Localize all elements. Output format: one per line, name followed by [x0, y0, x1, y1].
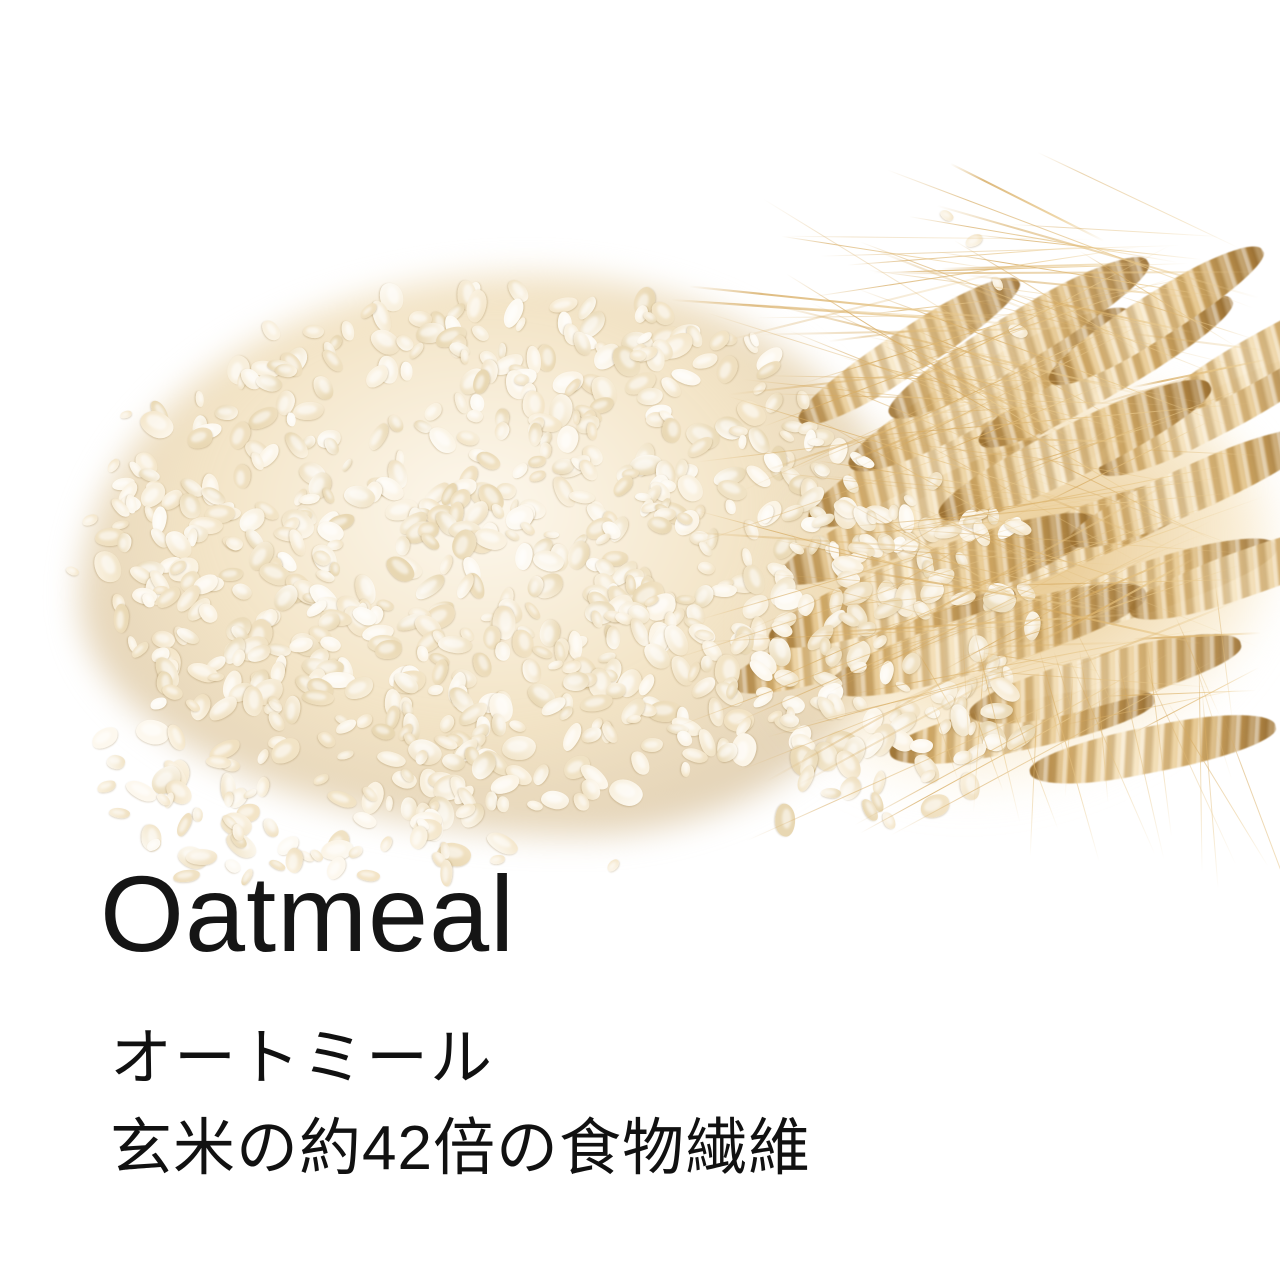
oat-flake: [710, 584, 737, 597]
oat-flake: [888, 504, 899, 520]
oat-flake: [233, 464, 250, 488]
subtitle-japanese: オートミール: [110, 1028, 494, 1090]
oat-flake-stray: [119, 409, 133, 420]
oat-flake: [630, 349, 646, 360]
description-japanese: 玄米の約42倍の食物繊維: [110, 1118, 811, 1180]
wheat-awn: [781, 235, 996, 269]
oat-flake: [573, 410, 580, 424]
oat-flake: [96, 778, 118, 794]
oat-flake: [485, 791, 497, 810]
oat-flake: [215, 404, 238, 419]
page-title: Oatmeal: [100, 860, 515, 968]
oat-flake: [243, 787, 259, 799]
oat-flake: [106, 754, 125, 770]
poster-canvas: Oatmeal オートミール 玄米の約42倍の食物繊維: [0, 0, 1280, 1280]
oatmeal-photo: [0, 0, 1280, 900]
oat-flake: [109, 806, 131, 819]
oat-flake: [440, 859, 452, 886]
oat-flake: [808, 438, 824, 446]
oat-flake: [676, 595, 695, 604]
oat-flake-stray: [65, 565, 80, 577]
oat-flake: [821, 787, 841, 798]
oat-flake: [193, 808, 204, 823]
oat-flake: [174, 811, 195, 839]
oat-flake: [260, 816, 281, 840]
oat-flake: [89, 723, 122, 753]
oat-flake-stray: [378, 835, 394, 854]
